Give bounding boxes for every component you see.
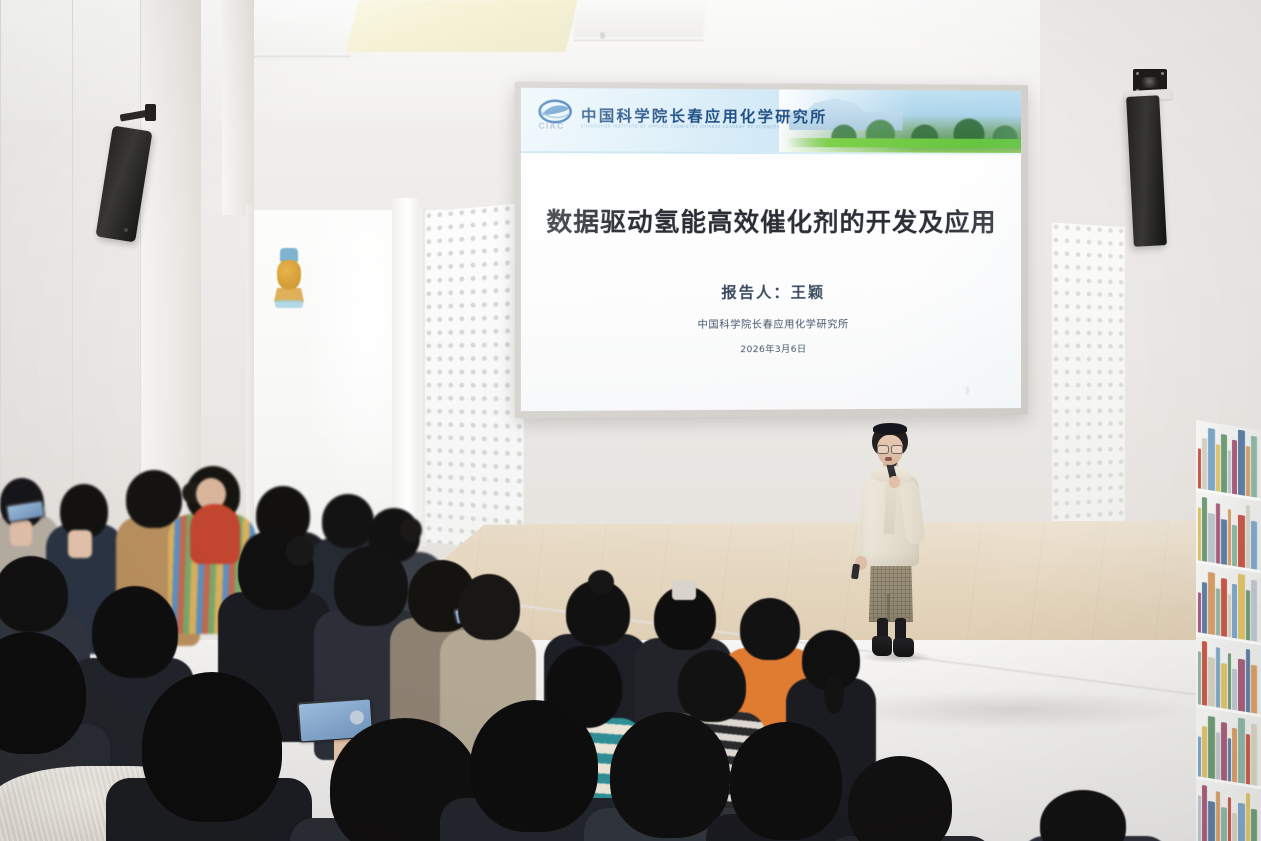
wall-seam [72,0,73,500]
ceiling-panel-secondary [573,0,708,38]
bookshelf-row [1196,564,1261,645]
presenter-skirt-slit [887,594,890,622]
book-spine [1202,582,1207,634]
book-spine [1202,641,1207,706]
book-spine [1202,726,1207,778]
ciac-wordmark: CIAC [539,122,565,131]
book-spine [1221,519,1227,565]
book-spine [1238,803,1245,841]
book-spine [1198,448,1201,488]
wall-seam [0,0,1,500]
book-spine [1238,515,1245,568]
book-spine [1198,795,1201,841]
presenter-hand-right [889,476,900,488]
book-spine [1251,809,1257,841]
book-spine [1216,732,1220,780]
book-spine [1232,525,1237,567]
wall-pilaster [222,0,254,215]
slide-surface: 中国科学院长春应用化学研究所 CIAC CHANGCHUN INSTITUTE … [521,88,1021,411]
bookshelf-row [1196,780,1261,841]
book-spine [1216,791,1220,841]
presenter-headband [873,423,907,434]
book-spine [1238,718,1245,784]
book-spine [1202,497,1207,562]
book-spine [1221,807,1227,841]
book-spine [1232,728,1237,783]
book-spine [1228,450,1231,493]
slide-title: 数据驱动氢能高效催化剂的开发及应用 [521,202,1021,239]
book-spine [1228,797,1231,841]
book-spine [1198,736,1201,776]
slide-affiliation: 中国科学院长春应用化学研究所 [521,315,1021,332]
book-spine [1228,738,1231,781]
book-spine [1198,592,1201,632]
book-spine [1246,793,1250,841]
presenter-boot-right [893,638,914,657]
presenter-clicker [851,564,860,580]
presenter-boot-left [872,636,892,656]
hair-clip [672,580,696,600]
book-spine [1202,785,1207,841]
book-spine [1208,657,1215,707]
book-spine [1221,578,1227,637]
book-spine [1198,651,1201,704]
lecture-photo: 中国科学院长春应用化学研究所 CIAC CHANGCHUN INSTITUTE … [0,0,1261,841]
book-spine [1246,505,1250,569]
book-spine [1208,513,1215,563]
book-spine [1238,659,1245,712]
stage-shadow [820,690,1200,730]
book-spine [1221,722,1227,781]
book-spine [1216,503,1220,564]
door-frame [246,205,254,545]
book-spine [1208,801,1215,841]
book-spine [1208,716,1215,779]
book-spine [1208,428,1215,491]
speaker-screw-left [124,228,128,232]
book-spine [1246,734,1250,785]
book-spine [1251,521,1257,570]
book-spine [1232,813,1237,841]
book-spine [1238,574,1245,640]
bookshelf-row [1196,636,1261,717]
book-spine [1216,444,1220,492]
bookshelf-row [1196,492,1261,573]
speaker-pivot-knob [1141,77,1158,88]
institute-name-en: CHANGCHUN INSTITUTE OF APPLIED CHEMISTRY… [581,123,780,129]
slide-corner-mark [966,386,969,394]
presenter-skirt [869,560,913,622]
ceiling-light-panel [346,0,579,52]
book-spine [1216,647,1220,708]
slide-date: 2026年3月6日 [521,341,1021,356]
book-spine [1216,588,1220,636]
book-spine [1228,509,1231,565]
book-spine [1246,649,1250,713]
book-spine [1251,436,1257,498]
bracket-screw [1136,72,1139,75]
book-spine [1251,665,1257,714]
glasses-icon [877,445,903,452]
book-spine [1246,590,1250,641]
ceiling-seam [574,40,704,41]
bookshelf-row [1196,708,1261,789]
banner-green-accent [787,138,1021,148]
book-spine [1232,584,1237,639]
bookshelf-row [1196,420,1261,501]
slide-header-banner: 中国科学院长春应用化学研究所 CIAC CHANGCHUN INSTITUTE … [521,88,1021,155]
book-spine [1198,507,1201,560]
ceiling-fixture [600,32,605,39]
presenter [845,418,935,658]
round-column [392,198,422,550]
slide-speaker-name: 报告人：王颖 [521,281,1021,303]
projection-screen: 中国科学院长春应用化学研究所 CIAC CHANGCHUN INSTITUTE … [515,82,1028,419]
book-spine [1208,572,1215,635]
book-spine [1221,663,1227,709]
bracket-screw [1161,72,1164,75]
perforated-lattice-screen [425,203,524,551]
book-spine [1221,434,1227,493]
book-spine [1238,430,1245,496]
wall-pilaster [140,0,200,520]
book-spine [1228,653,1231,709]
book-spine [1232,669,1237,711]
right-lattice-screen [1052,223,1125,528]
speaker-wall-bracket-left [145,104,156,121]
book-spine [1251,580,1257,642]
book-spine [1232,440,1237,495]
institute-logo-lockup: 中国科学院长春应用化学研究所 CIAC CHANGCHUN INSTITUTE … [538,97,828,133]
wall-seam [200,0,201,520]
presenter-mouth [885,457,892,461]
decorative-object [272,248,306,310]
wall-seam [140,0,141,520]
book-spine [1251,724,1257,786]
bookshelf [1196,420,1261,841]
book-spine [1246,446,1250,497]
book-spine [1228,594,1231,637]
book-spine [1202,438,1207,490]
